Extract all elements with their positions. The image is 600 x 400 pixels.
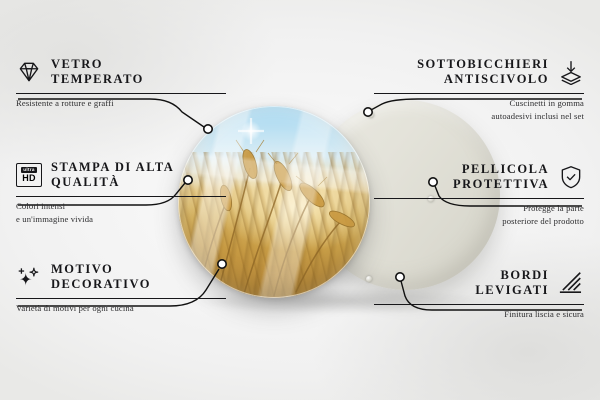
feature-divider	[374, 198, 584, 199]
feature-divider	[16, 93, 226, 94]
marker-sotto	[364, 108, 372, 116]
feature-divider	[374, 304, 584, 305]
feature-description: Varietà di motivi per ogni cucina	[16, 302, 226, 314]
marker-vetro	[204, 125, 212, 133]
feature-vetro-temperato[interactable]: VETRO TEMPERATO Resistente a rotture e g…	[16, 55, 226, 110]
feature-description: Colori intensi e un'immagine vivida	[16, 200, 226, 225]
feature-bordi-levigati[interactable]: BORDI LEVIGATI Finitura liscia e sicura	[374, 266, 584, 321]
feature-description: Cuscinetti in gomma autoadesivi inclusi …	[374, 97, 584, 122]
feature-divider	[374, 93, 584, 94]
feature-description: Protegge la parte posteriore del prodott…	[374, 202, 584, 227]
feature-title: MOTIVO DECORATIVO	[51, 262, 151, 292]
feature-divider	[16, 298, 226, 299]
ultra-label: ultra	[21, 167, 36, 173]
feature-stampa-di-alta-qualita[interactable]: ultra HD STAMPA DI ALTA QUALITÀ Colori i…	[16, 158, 226, 225]
feature-title: PELLICOLA PROTETTIVA	[453, 162, 549, 192]
feature-title: VETRO TEMPERATO	[51, 57, 144, 87]
feature-title: STAMPA DI ALTA QUALITÀ	[51, 160, 174, 190]
ultra-hd-badge-icon: ultra HD	[16, 163, 42, 187]
feature-pellicola-protettiva[interactable]: PELLICOLA PROTETTIVA Protegge la parte p…	[374, 160, 584, 227]
feature-header: VETRO TEMPERATO	[16, 55, 226, 89]
feature-title: SOTTOBICCHIERI ANTISCIVOLO	[417, 57, 549, 87]
feature-header: SOTTOBICCHIERI ANTISCIVOLO	[374, 55, 584, 89]
feature-divider	[16, 196, 226, 197]
feature-description: Finitura liscia e sicura	[374, 308, 584, 320]
diamond-icon	[16, 59, 42, 85]
stacked-pad-download-icon	[558, 59, 584, 85]
sparkles-icon	[16, 264, 42, 290]
feature-title: BORDI LEVIGATI	[475, 268, 549, 298]
feature-header: BORDI LEVIGATI	[374, 266, 584, 300]
infographic-canvas: VETRO TEMPERATO Resistente a rotture e g…	[0, 0, 600, 400]
feature-motivo-decorativo[interactable]: MOTIVO DECORATIVO Varietà di motivi per …	[16, 260, 226, 315]
feature-sottobicchieri-antiscivolo[interactable]: SOTTOBICCHIERI ANTISCIVOLO Cuscinetti in…	[374, 55, 584, 122]
feature-header: ultra HD STAMPA DI ALTA QUALITÀ	[16, 158, 226, 192]
feature-header: MOTIVO DECORATIVO	[16, 260, 226, 294]
hd-label: HD	[22, 174, 35, 183]
feature-header: PELLICOLA PROTETTIVA	[374, 160, 584, 194]
diagonal-stripes-icon	[558, 270, 584, 296]
feature-description: Resistente a rotture e graffi	[16, 97, 226, 109]
shield-check-icon	[558, 164, 584, 190]
